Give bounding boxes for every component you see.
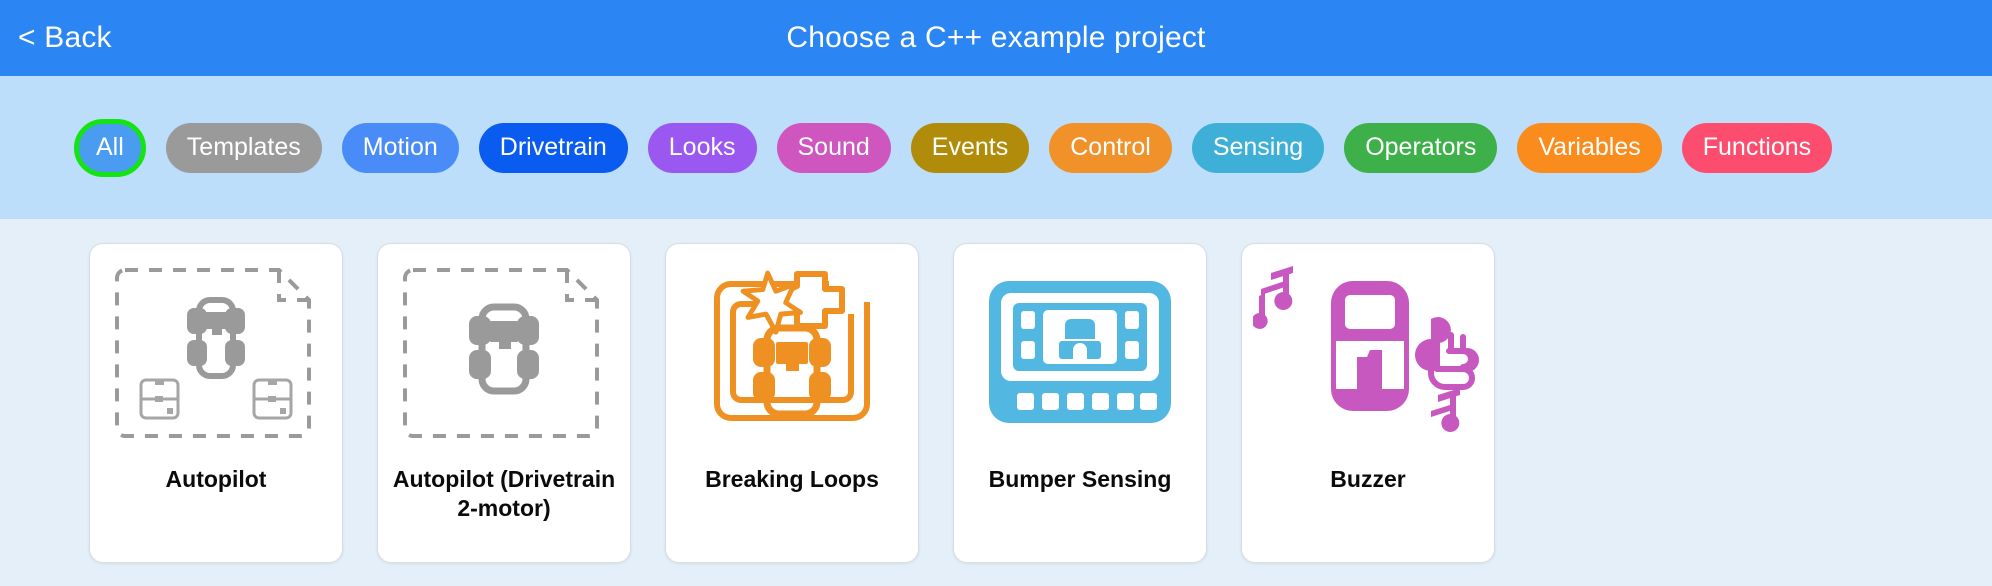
filter-chip-looks[interactable]: Looks (648, 123, 757, 173)
filter-chip-label: Looks (669, 133, 736, 162)
filter-chip-control[interactable]: Control (1049, 123, 1172, 173)
project-card-breaking-loops[interactable]: Breaking Loops (665, 243, 919, 563)
filter-chip-label: Templates (187, 133, 301, 162)
filter-chip-operators[interactable]: Operators (1344, 123, 1497, 173)
example-project-grid: Autopilot Autopilot (Drivet (0, 219, 1992, 586)
project-card-autopilot-drivetrain-2-motor[interactable]: Autopilot (Drivetrain 2-motor) (377, 243, 631, 563)
filter-chip-label: Functions (1703, 133, 1811, 162)
filter-chip-motion[interactable]: Motion (342, 123, 459, 173)
music-note-icon (1431, 388, 1460, 432)
filter-chip-events[interactable]: Events (911, 123, 1029, 173)
filter-chip-label: Motion (363, 133, 438, 162)
project-card-label: Bumper Sensing (954, 459, 1206, 562)
filter-chip-label: Drivetrain (500, 133, 607, 162)
robot-two-motor-document-icon (90, 244, 342, 459)
project-card-label: Breaking Loops (666, 459, 918, 562)
filter-chip-drivetrain[interactable]: Drivetrain (479, 123, 628, 173)
filter-chip-label: Sensing (1213, 133, 1303, 162)
buzzer-speaker-icon (1242, 244, 1494, 459)
bumper-screen-icon (954, 244, 1206, 459)
page-title: Choose a C++ example project (0, 21, 1992, 55)
filter-chip-variables[interactable]: Variables (1517, 123, 1661, 173)
project-card-label: Autopilot (Drivetrain 2-motor) (378, 459, 630, 562)
filter-chip-functions[interactable]: Functions (1682, 123, 1832, 173)
page-header: < Back Choose a C++ example project (0, 0, 1992, 76)
project-card-bumper-sensing[interactable]: Bumper Sensing (953, 243, 1207, 563)
project-card-label: Autopilot (90, 459, 342, 562)
filter-chip-label: Sound (798, 133, 870, 162)
filter-chip-label: Events (932, 133, 1008, 162)
project-card-label: Buzzer (1242, 459, 1494, 562)
filter-chip-label: Control (1070, 133, 1151, 162)
filter-chip-sensing[interactable]: Sensing (1192, 123, 1324, 173)
music-note-icon (1253, 266, 1293, 329)
filter-chip-label: All (96, 133, 124, 162)
filter-chip-all[interactable]: All (74, 119, 146, 177)
filter-chip-sound[interactable]: Sound (777, 123, 891, 173)
project-card-buzzer[interactable]: Buzzer (1241, 243, 1495, 563)
filter-chip-label: Variables (1538, 133, 1640, 162)
back-button[interactable]: < Back (18, 21, 112, 55)
category-filter-bar: All Templates Motion Drivetrain Looks So… (0, 76, 1992, 219)
filter-chip-templates[interactable]: Templates (166, 123, 322, 173)
filter-chip-label: Operators (1365, 133, 1476, 162)
loop-break-robot-icon (666, 244, 918, 459)
project-card-autopilot[interactable]: Autopilot (89, 243, 343, 563)
robot-brain-document-icon (378, 244, 630, 459)
